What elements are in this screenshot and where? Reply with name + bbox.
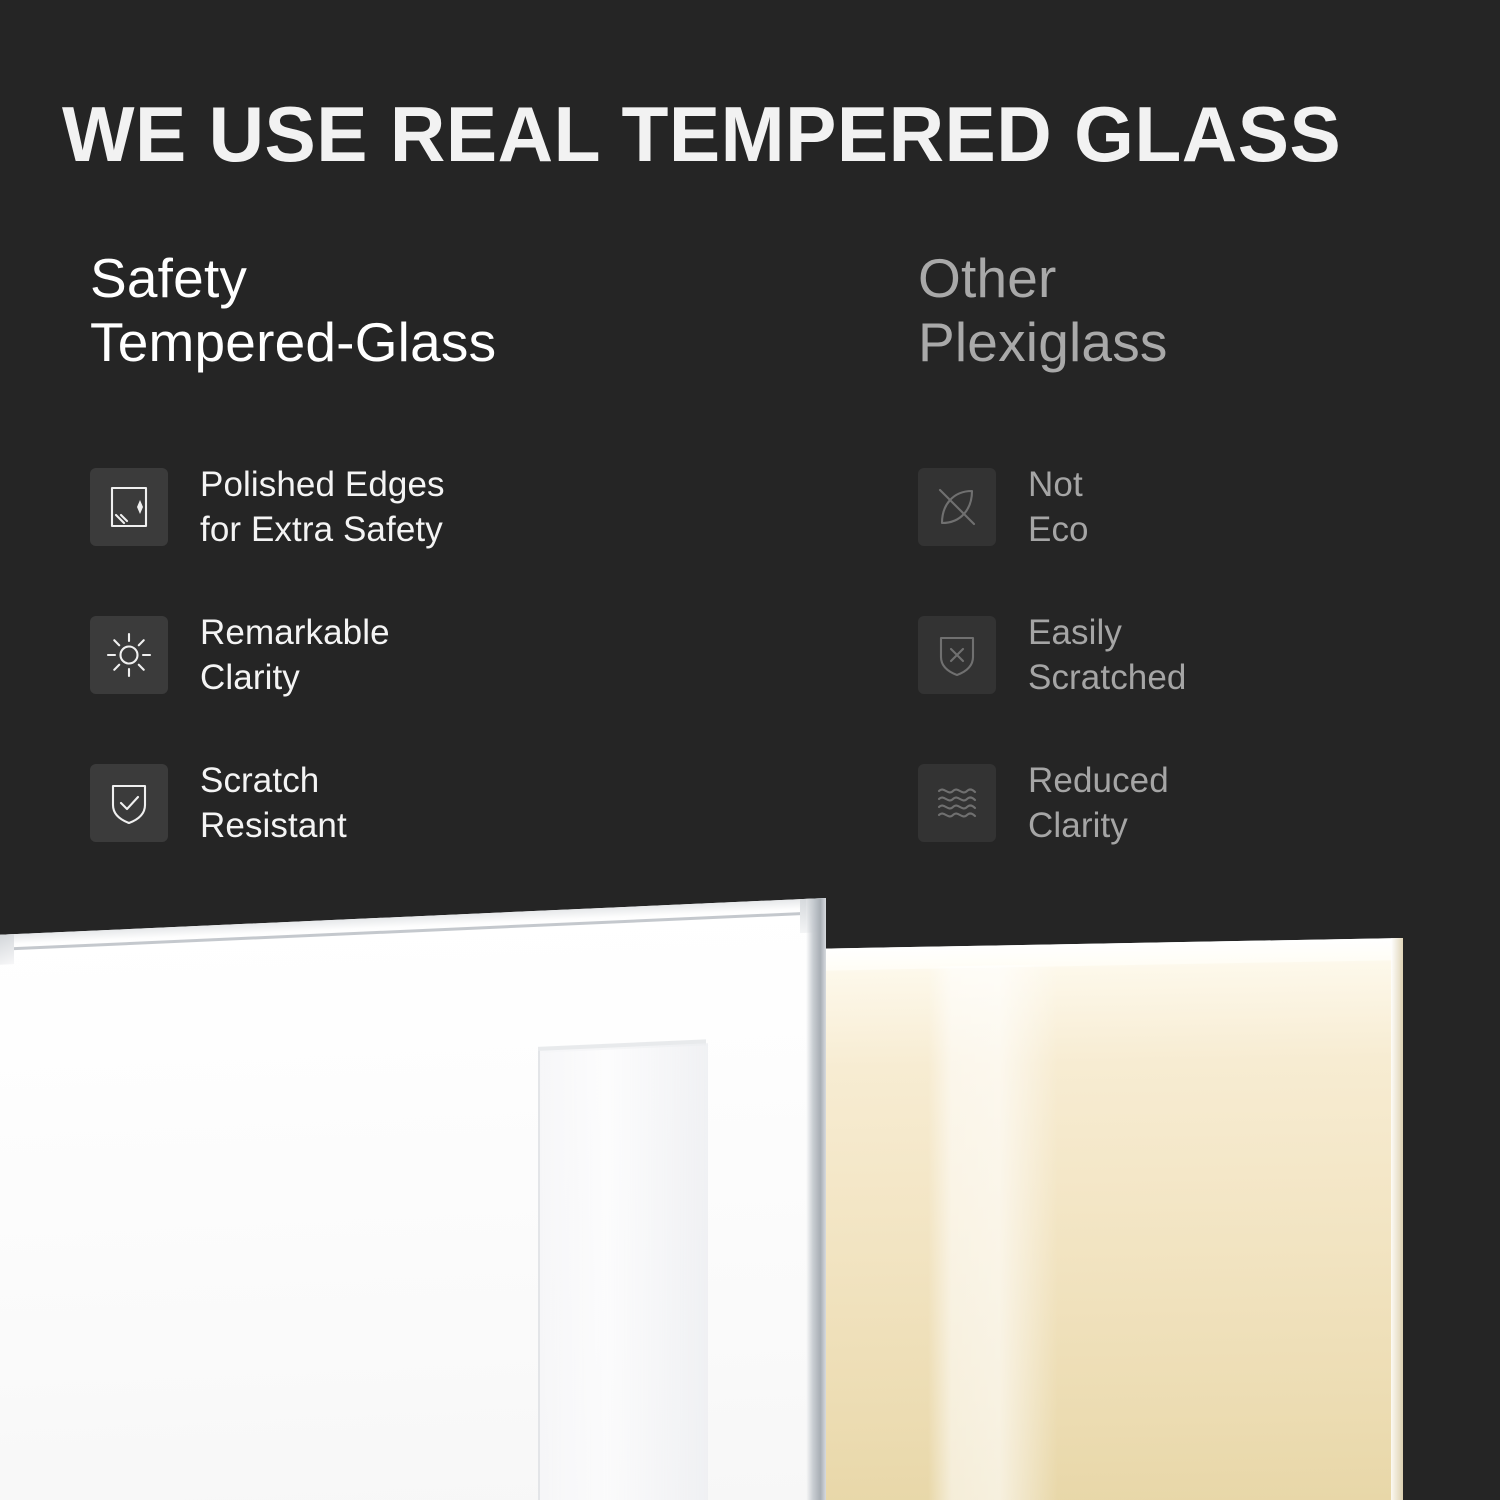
- feature-label: Polished Edges for Extra Safety: [200, 462, 445, 552]
- glass-top-left-corner: [0, 934, 14, 965]
- feature-label: Scratch Resistant: [200, 758, 347, 848]
- plexi-reflection: [928, 964, 1058, 1500]
- feature-label: Not Eco: [1028, 462, 1089, 552]
- feature-row: Scratch Resistant: [90, 764, 445, 842]
- feature-row: Polished Edges for Extra Safety: [90, 468, 445, 546]
- sun-brightness-icon: [90, 616, 168, 694]
- feature-row: Remarkable Clarity: [90, 616, 445, 694]
- feature-label: Easily Scratched: [1028, 610, 1187, 700]
- feature-list-good: Polished Edges for Extra Safety Remarkab…: [90, 468, 445, 912]
- column-safety-tempered-glass: Safety Tempered-Glass Polished Edges for…: [90, 246, 790, 374]
- column-title-good: Safety Tempered-Glass: [90, 246, 790, 374]
- polished-glass-pane-sparkle-icon: [90, 468, 168, 546]
- tempered-glass-comparison-infographic: WE USE REAL TEMPERED GLASS Safety Temper…: [0, 0, 1500, 1500]
- feature-list-bad: Not Eco Easily Scratched: [918, 468, 1187, 912]
- plexi-right-edge: [1391, 938, 1403, 1500]
- product-panel-comparison-image: [0, 880, 1500, 1500]
- feature-row: Not Eco: [918, 468, 1187, 546]
- feature-row: Reduced Clarity: [918, 764, 1187, 842]
- plexi-top-edge: [818, 938, 1403, 971]
- feature-label: Reduced Clarity: [1028, 758, 1169, 848]
- clear-tempered-glass-panel: [0, 898, 826, 1500]
- feature-label: Remarkable Clarity: [200, 610, 390, 700]
- page-title: WE USE REAL TEMPERED GLASS: [62, 90, 1431, 178]
- wavy-lines-blur-icon: [918, 764, 996, 842]
- yellowed-plexiglass-panel: [818, 938, 1403, 1500]
- shield-check-icon: [90, 764, 168, 842]
- leaf-slashed-icon: [918, 468, 996, 546]
- glass-right-bevel: [806, 898, 826, 1500]
- shield-x-icon: [918, 616, 996, 694]
- feature-row: Easily Scratched: [918, 616, 1187, 694]
- glass-reflection-band: [538, 1043, 708, 1500]
- column-title-bad: Other Plexiglass: [918, 246, 1478, 374]
- column-other-plexiglass: Other Plexiglass Not Eco: [918, 246, 1478, 374]
